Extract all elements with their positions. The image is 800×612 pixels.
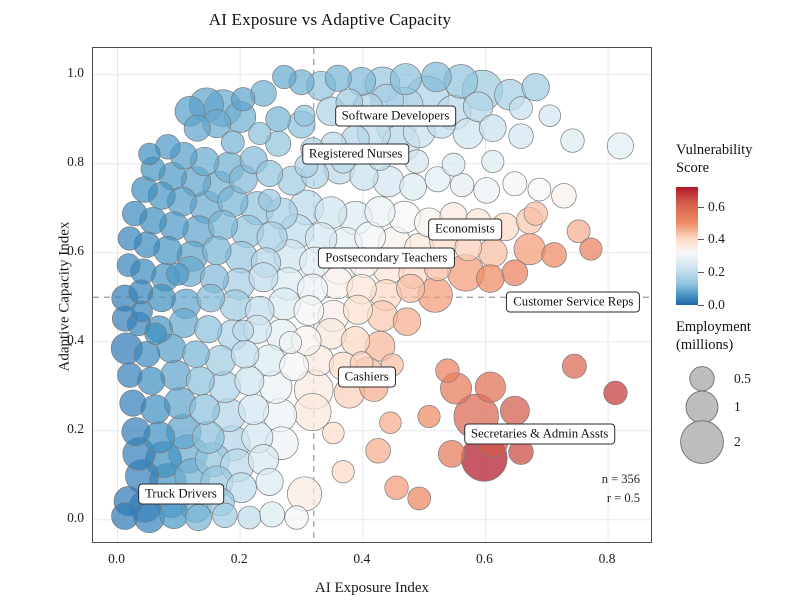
scatter-point[interactable]: [235, 366, 264, 395]
size-legend: 0.512: [676, 358, 732, 471]
scatter-point[interactable]: [479, 115, 506, 142]
annotation-label: Customer Service Reps: [506, 291, 640, 312]
scatter-point[interactable]: [422, 62, 452, 92]
scatter-point[interactable]: [112, 503, 139, 530]
scatter-point[interactable]: [118, 227, 142, 251]
scatter-point[interactable]: [132, 301, 153, 322]
scatter-point[interactable]: [117, 254, 140, 277]
scatter-point[interactable]: [365, 197, 395, 227]
size-legend-label-1: 1: [734, 399, 741, 415]
scatter-point[interactable]: [258, 189, 280, 211]
scatter-point[interactable]: [197, 284, 225, 312]
x-tick-0.8: 0.8: [587, 551, 627, 567]
scatter-point[interactable]: [373, 166, 404, 197]
annotation-label: Postsecondary Teachers: [318, 248, 454, 269]
chart-title: AI Exposure vs Adaptive Capacity: [0, 10, 660, 30]
scatter-point[interactable]: [161, 360, 191, 390]
scatter-point[interactable]: [287, 477, 321, 511]
scatter-point[interactable]: [257, 222, 287, 252]
scatter-point[interactable]: [220, 290, 251, 321]
scatter-point[interactable]: [552, 183, 577, 208]
x-tick-0.6: 0.6: [464, 551, 504, 567]
scatter-point[interactable]: [475, 372, 505, 402]
scatter-point[interactable]: [561, 129, 585, 153]
scatter-point[interactable]: [122, 201, 147, 226]
scatter-point[interactable]: [385, 476, 409, 500]
scatter-point[interactable]: [183, 341, 210, 368]
scatter-point[interactable]: [280, 352, 309, 381]
scatter-point[interactable]: [580, 238, 602, 260]
scatter-point[interactable]: [238, 506, 261, 529]
size-legend-marker: [686, 391, 718, 423]
scatter-point[interactable]: [221, 131, 244, 154]
scatter-point[interactable]: [249, 263, 278, 292]
y-axis-label: Adaptive Capacity Index: [57, 17, 74, 577]
scatter-point[interactable]: [500, 396, 529, 425]
scatter-point[interactable]: [190, 394, 220, 424]
annotation-label: Cashiers: [338, 367, 396, 388]
scatter-point[interactable]: [129, 280, 153, 304]
scatter-point[interactable]: [510, 97, 533, 120]
scatter-point[interactable]: [524, 202, 548, 226]
scatter-point[interactable]: [169, 309, 198, 338]
figure-root: AI Exposure vs Adaptive Capacity AI Expo…: [0, 0, 800, 612]
scatter-point[interactable]: [192, 421, 224, 453]
scatter-point[interactable]: [285, 506, 309, 530]
scatter-point[interactable]: [509, 124, 534, 149]
scatter-point[interactable]: [117, 363, 142, 388]
scatter-point[interactable]: [273, 65, 297, 89]
scatter-point[interactable]: [418, 405, 440, 427]
scatter-point[interactable]: [134, 341, 160, 367]
scatter-point[interactable]: [502, 260, 528, 286]
colorbar-tick-mark: [698, 305, 704, 306]
scatter-point[interactable]: [233, 320, 254, 341]
scatter-point[interactable]: [195, 316, 222, 343]
scatter-point[interactable]: [450, 173, 474, 197]
x-tick-0.0: 0.0: [97, 551, 137, 567]
scatter-point[interactable]: [294, 105, 315, 126]
scatter-point[interactable]: [256, 468, 283, 495]
scatter-point[interactable]: [393, 308, 421, 336]
scatter-point[interactable]: [390, 64, 421, 95]
scatter-point[interactable]: [442, 153, 465, 176]
scatter-point[interactable]: [503, 172, 527, 196]
colorbar-tick-0.6: 0.6: [708, 199, 725, 215]
scatter-point[interactable]: [542, 243, 567, 268]
scatter-point[interactable]: [453, 118, 483, 148]
y-tick-0.4: 0.4: [44, 332, 84, 348]
scatter-point[interactable]: [184, 115, 210, 141]
colorbar-gradient: [676, 187, 704, 305]
scatter-point[interactable]: [438, 441, 465, 468]
annotation-label: Registered Nurses: [302, 143, 409, 164]
size-legend-label-2: 2: [734, 434, 741, 450]
colorbar-tick-mark: [698, 239, 704, 240]
scatter-point[interactable]: [528, 178, 551, 201]
scatter-point[interactable]: [514, 234, 545, 265]
scatter-point[interactable]: [139, 143, 161, 165]
scatter-point[interactable]: [186, 367, 214, 395]
scatter-point[interactable]: [231, 87, 255, 111]
stat-note: n = 356: [560, 472, 640, 487]
scatter-point[interactable]: [474, 178, 500, 204]
annotation-label: Truck Drivers: [138, 484, 224, 505]
scatter-point[interactable]: [562, 354, 586, 378]
scatter-point[interactable]: [478, 238, 507, 267]
scatter-point[interactable]: [477, 265, 505, 293]
annotation-label: Secretaries & Admin Assts: [464, 424, 616, 445]
scatter-point[interactable]: [166, 263, 188, 285]
scatter-point[interactable]: [522, 73, 549, 100]
colorbar-tick-0.0: 0.0: [708, 297, 725, 313]
scatter-point[interactable]: [185, 504, 211, 530]
stat-note: r = 0.5: [560, 491, 640, 506]
scatter-point[interactable]: [332, 461, 354, 483]
colorbar-tick-mark: [698, 272, 704, 273]
size-legend-marker: [690, 367, 714, 391]
scatter-point[interactable]: [213, 503, 238, 528]
scatter-point[interactable]: [294, 296, 324, 326]
annotation-label: Software Developers: [335, 105, 457, 126]
scatter-point[interactable]: [607, 133, 633, 159]
size-legend-marker: [681, 421, 724, 464]
scatter-point[interactable]: [604, 381, 628, 405]
y-tick-0.8: 0.8: [44, 154, 84, 170]
size-legend-title: Employment (millions): [676, 318, 751, 354]
colorbar: 0.60.40.20.0: [676, 187, 704, 310]
scatter-point[interactable]: [341, 327, 370, 356]
colorbar-tick-mark: [698, 207, 704, 208]
scatter-point[interactable]: [279, 331, 301, 353]
colorbar-tick-0.4: 0.4: [708, 231, 725, 247]
scatter-point[interactable]: [256, 160, 282, 186]
x-tick-0.2: 0.2: [219, 551, 259, 567]
y-tick-0.6: 0.6: [44, 243, 84, 259]
scatter-point[interactable]: [400, 173, 427, 200]
size-legend-markers: [676, 358, 732, 466]
x-axis-label: AI Exposure Index: [92, 580, 652, 597]
scatter-point[interactable]: [145, 323, 167, 345]
y-tick-0.0: 0.0: [44, 510, 84, 526]
scatter-point[interactable]: [249, 122, 271, 144]
scatter-point[interactable]: [323, 422, 345, 444]
colorbar-tick-0.2: 0.2: [708, 264, 725, 280]
scatter-point[interactable]: [397, 274, 425, 302]
scatter-point[interactable]: [231, 340, 259, 368]
scatter-point[interactable]: [208, 210, 238, 240]
scatter-point[interactable]: [436, 359, 460, 383]
scatter-point[interactable]: [120, 390, 146, 416]
scatter-point[interactable]: [366, 438, 391, 463]
scatter-point[interactable]: [259, 502, 284, 527]
colorbar-title: Vulnerability Score: [676, 141, 752, 177]
scatter-point[interactable]: [482, 150, 504, 172]
scatter-point[interactable]: [343, 295, 372, 324]
x-tick-0.4: 0.4: [342, 551, 382, 567]
scatter-point[interactable]: [408, 487, 431, 510]
scatter-point[interactable]: [380, 412, 402, 434]
scatter-point[interactable]: [238, 394, 268, 424]
y-tick-0.2: 0.2: [44, 421, 84, 437]
size-legend-label-0.5: 0.5: [734, 371, 751, 387]
y-tick-1.0: 1.0: [44, 65, 84, 81]
scatter-point[interactable]: [539, 105, 561, 127]
annotation-label: Economists: [428, 219, 502, 240]
scatter-point[interactable]: [203, 236, 232, 265]
scatter-point[interactable]: [122, 418, 150, 446]
scatter-point[interactable]: [325, 65, 351, 91]
